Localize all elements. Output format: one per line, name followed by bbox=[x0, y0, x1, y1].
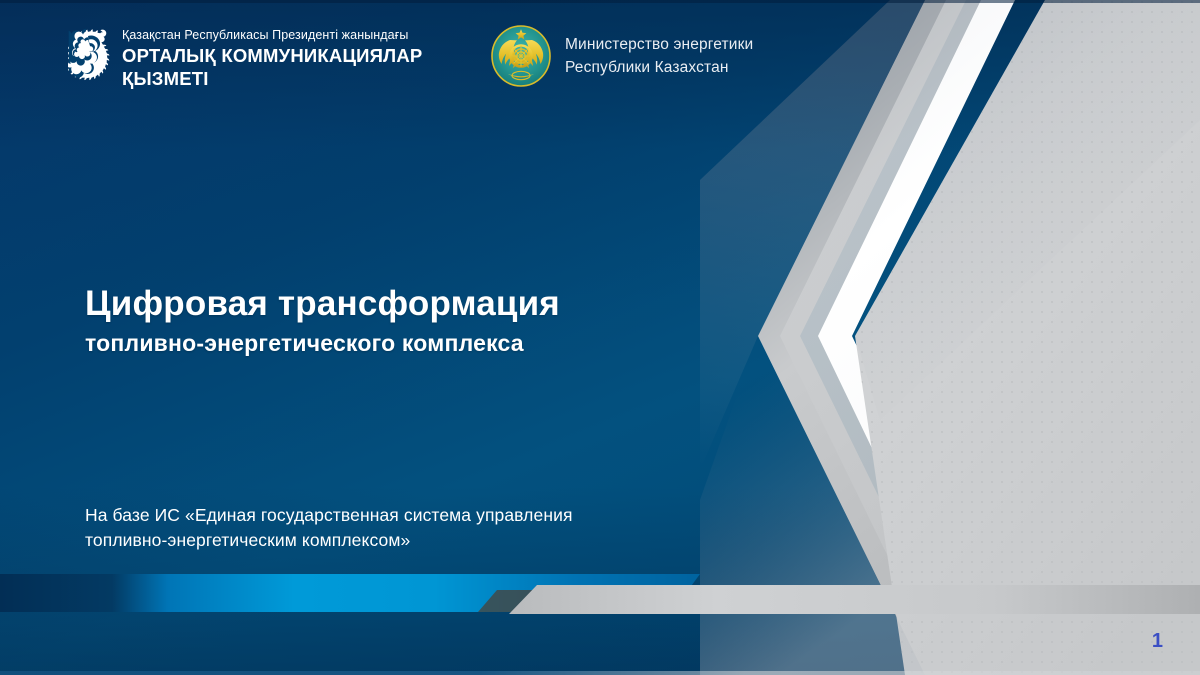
ccs-logo-line2: ОРТАЛЫҚ КОММУНИКАЦИЯЛАР bbox=[122, 44, 422, 67]
slide-caption-block: На базе ИС «Единая государственная систе… bbox=[85, 503, 573, 553]
ministry-logo: Министерство энергетики Республики Казах… bbox=[491, 25, 753, 87]
slide-title-block: Цифровая трансформация топливно-энергети… bbox=[85, 283, 560, 358]
bottom-ribbon-band bbox=[0, 572, 1200, 614]
presentation-slide: Қазақстан Республикасы Президенті жанынд… bbox=[0, 0, 1200, 675]
ccs-logo: Қазақстан Республикасы Президенті жанынд… bbox=[68, 26, 422, 98]
slide-title-main: Цифровая трансформация bbox=[85, 283, 560, 325]
ministry-logo-line1: Министерство энергетики bbox=[565, 33, 753, 56]
ccs-logo-line1: Қазақстан Республикасы Президенті жанынд… bbox=[122, 28, 422, 42]
ministry-logo-line2: Республики Казахстан bbox=[565, 56, 753, 79]
page-number: 1 bbox=[1152, 630, 1163, 653]
ccs-logo-text: Қазақстан Республикасы Президенті жанынд… bbox=[122, 26, 422, 90]
ministry-logo-text: Министерство энергетики Республики Казах… bbox=[565, 33, 753, 79]
bottom-edge-rule bbox=[0, 671, 1200, 675]
slide-caption-line1: На базе ИС «Единая государственная систе… bbox=[85, 503, 573, 528]
top-edge-rule bbox=[0, 0, 1200, 3]
slide-title-sub: топливно-энергетического комплекса bbox=[85, 328, 560, 358]
slide-caption-line2: топливно-энергетическим комплексом» bbox=[85, 528, 573, 553]
snow-leopard-emblem-icon bbox=[68, 26, 112, 98]
ccs-logo-line3: ҚЫЗМЕТІ bbox=[122, 67, 422, 90]
kazakhstan-state-emblem-icon bbox=[491, 25, 551, 87]
